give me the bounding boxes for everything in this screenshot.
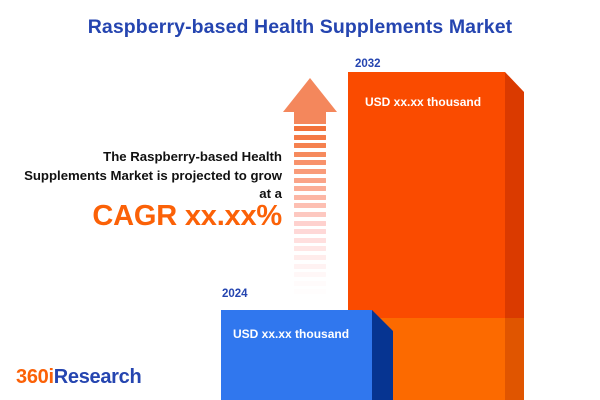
arrow-stripe-3 xyxy=(294,152,326,157)
statement-text: The Raspberry-based Health Supplements M… xyxy=(24,148,282,204)
arrow-head-icon xyxy=(283,78,337,112)
arrow-stripe-18 xyxy=(294,281,326,286)
arrow-stripe-14 xyxy=(294,246,326,251)
bar-2032-lower-side-face xyxy=(505,318,524,400)
arrow-stripe-11 xyxy=(294,221,326,226)
arrow-stripe-4 xyxy=(294,160,326,165)
logo-text-research: Research xyxy=(54,366,142,388)
bar-2024-front-face xyxy=(221,310,372,400)
growth-arrow-icon xyxy=(283,78,337,293)
page-title: Raspberry-based Health Supplements Marke… xyxy=(0,16,600,39)
arrow-stripe-7 xyxy=(294,186,326,191)
arrow-stripe-15 xyxy=(294,255,326,260)
arrow-stripe-10 xyxy=(294,212,326,217)
bar-2024-value-label: USD xx.xx thousand xyxy=(233,327,349,341)
bar-2032-year-label: 2032 xyxy=(355,58,381,70)
bar-2032-value-label: USD xx.xx thousand xyxy=(365,95,481,109)
arrow-stripe-12 xyxy=(294,229,326,234)
arrow-stripe-0 xyxy=(294,126,326,131)
arrow-stripe-8 xyxy=(294,195,326,200)
brand-logo[interactable]: 360iResearch xyxy=(16,366,141,389)
arrow-stripe-5 xyxy=(294,169,326,174)
arrow-stripe-17 xyxy=(294,272,326,277)
cagr-value: CAGR xx.xx% xyxy=(24,200,282,233)
arrow-stripes xyxy=(294,126,326,293)
arrow-stripe-9 xyxy=(294,203,326,208)
bar-2024-year-label: 2024 xyxy=(222,288,248,300)
arrow-stripe-6 xyxy=(294,178,326,183)
arrow-stripe-19 xyxy=(294,289,326,294)
infographic-canvas: Raspberry-based Health Supplements Marke… xyxy=(0,0,600,400)
arrow-stripe-16 xyxy=(294,264,326,269)
arrow-stripe-2 xyxy=(294,143,326,148)
arrow-neck xyxy=(294,112,326,124)
logo-text-360i: 360i xyxy=(16,366,54,388)
arrow-stripe-1 xyxy=(294,135,326,140)
arrow-stripe-13 xyxy=(294,238,326,243)
